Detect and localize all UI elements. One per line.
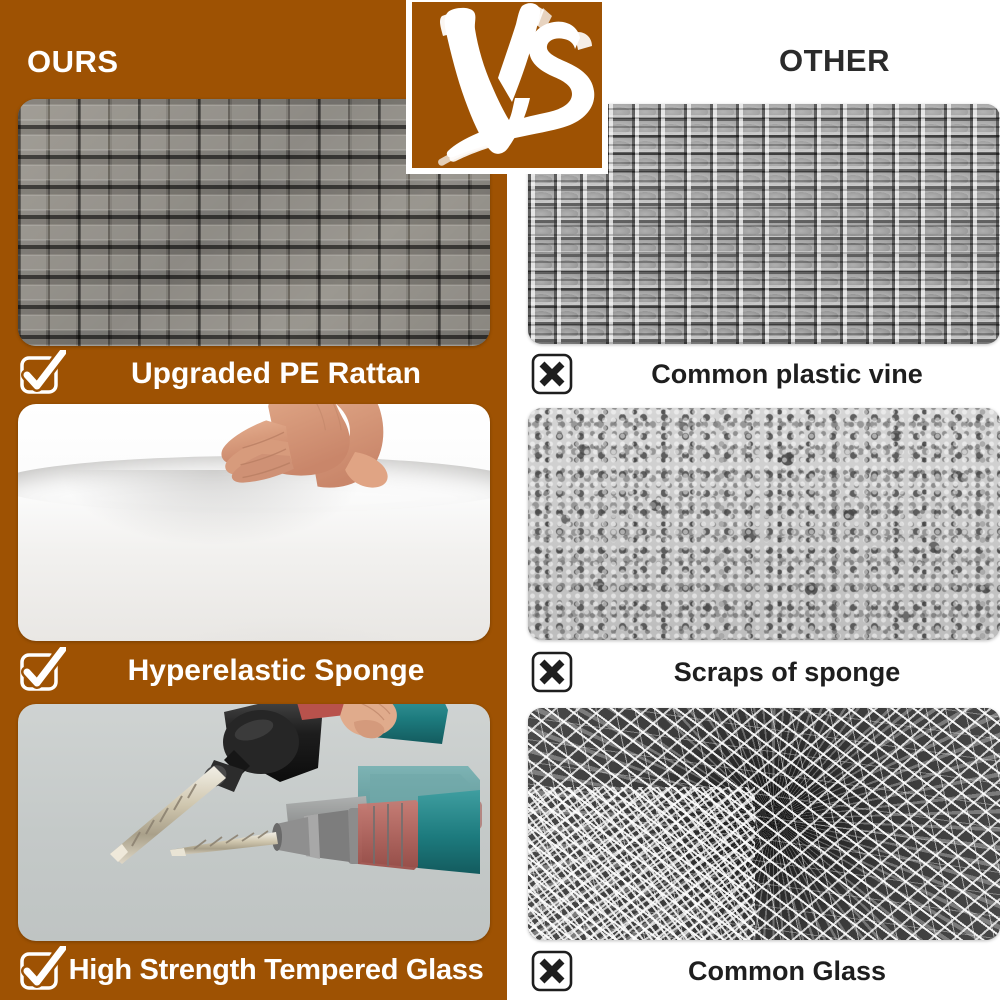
comparison-infographic: OURS OTHER (0, 0, 1000, 1000)
ours-result-row-3: High Strength Tempered Glass (18, 942, 490, 998)
cross-x-icon (528, 648, 576, 696)
vs-badge-inner (412, 2, 602, 168)
other-label-1: Common plastic vine (576, 361, 1000, 388)
other-result-row-1: Common plastic vine (528, 348, 1000, 400)
checkmark-icon (18, 946, 66, 994)
other-image-shattered-glass (528, 708, 1000, 940)
ours-column-title: OURS (27, 44, 119, 80)
ours-result-row-1: Upgraded PE Rattan (18, 346, 490, 402)
other-image-sponge-scraps (528, 408, 1000, 640)
ours-label-1: Upgraded PE Rattan (66, 359, 490, 389)
hand-photo (207, 404, 424, 537)
other-result-row-2: Scraps of sponge (528, 646, 1000, 698)
shattered-glass-texture (528, 708, 1000, 940)
drill-scene: BO (18, 704, 490, 941)
foam-texture (18, 404, 490, 641)
other-label-2: Scraps of sponge (576, 659, 1000, 686)
glass-dense-crack-zone (528, 787, 755, 940)
ours-label-3: High Strength Tempered Glass (66, 956, 490, 985)
ours-image-foam (18, 404, 490, 641)
cross-x-icon (528, 350, 576, 398)
other-column-title: OTHER (779, 43, 890, 79)
sponge-scrap-texture (528, 408, 1000, 640)
vs-badge (406, 0, 608, 174)
ours-result-row-2: Hyperelastic Sponge (18, 642, 490, 700)
checkmark-icon (18, 350, 66, 398)
vs-brush-icon (412, 2, 602, 168)
other-label-3: Common Glass (576, 958, 1000, 985)
ours-image-drill-test: BO (18, 704, 490, 941)
other-result-row-3: Common Glass (528, 946, 1000, 996)
ours-label-2: Hyperelastic Sponge (66, 656, 490, 686)
cross-x-icon (528, 947, 576, 995)
drill-background: BO (18, 704, 490, 941)
checkmark-icon (18, 647, 66, 695)
